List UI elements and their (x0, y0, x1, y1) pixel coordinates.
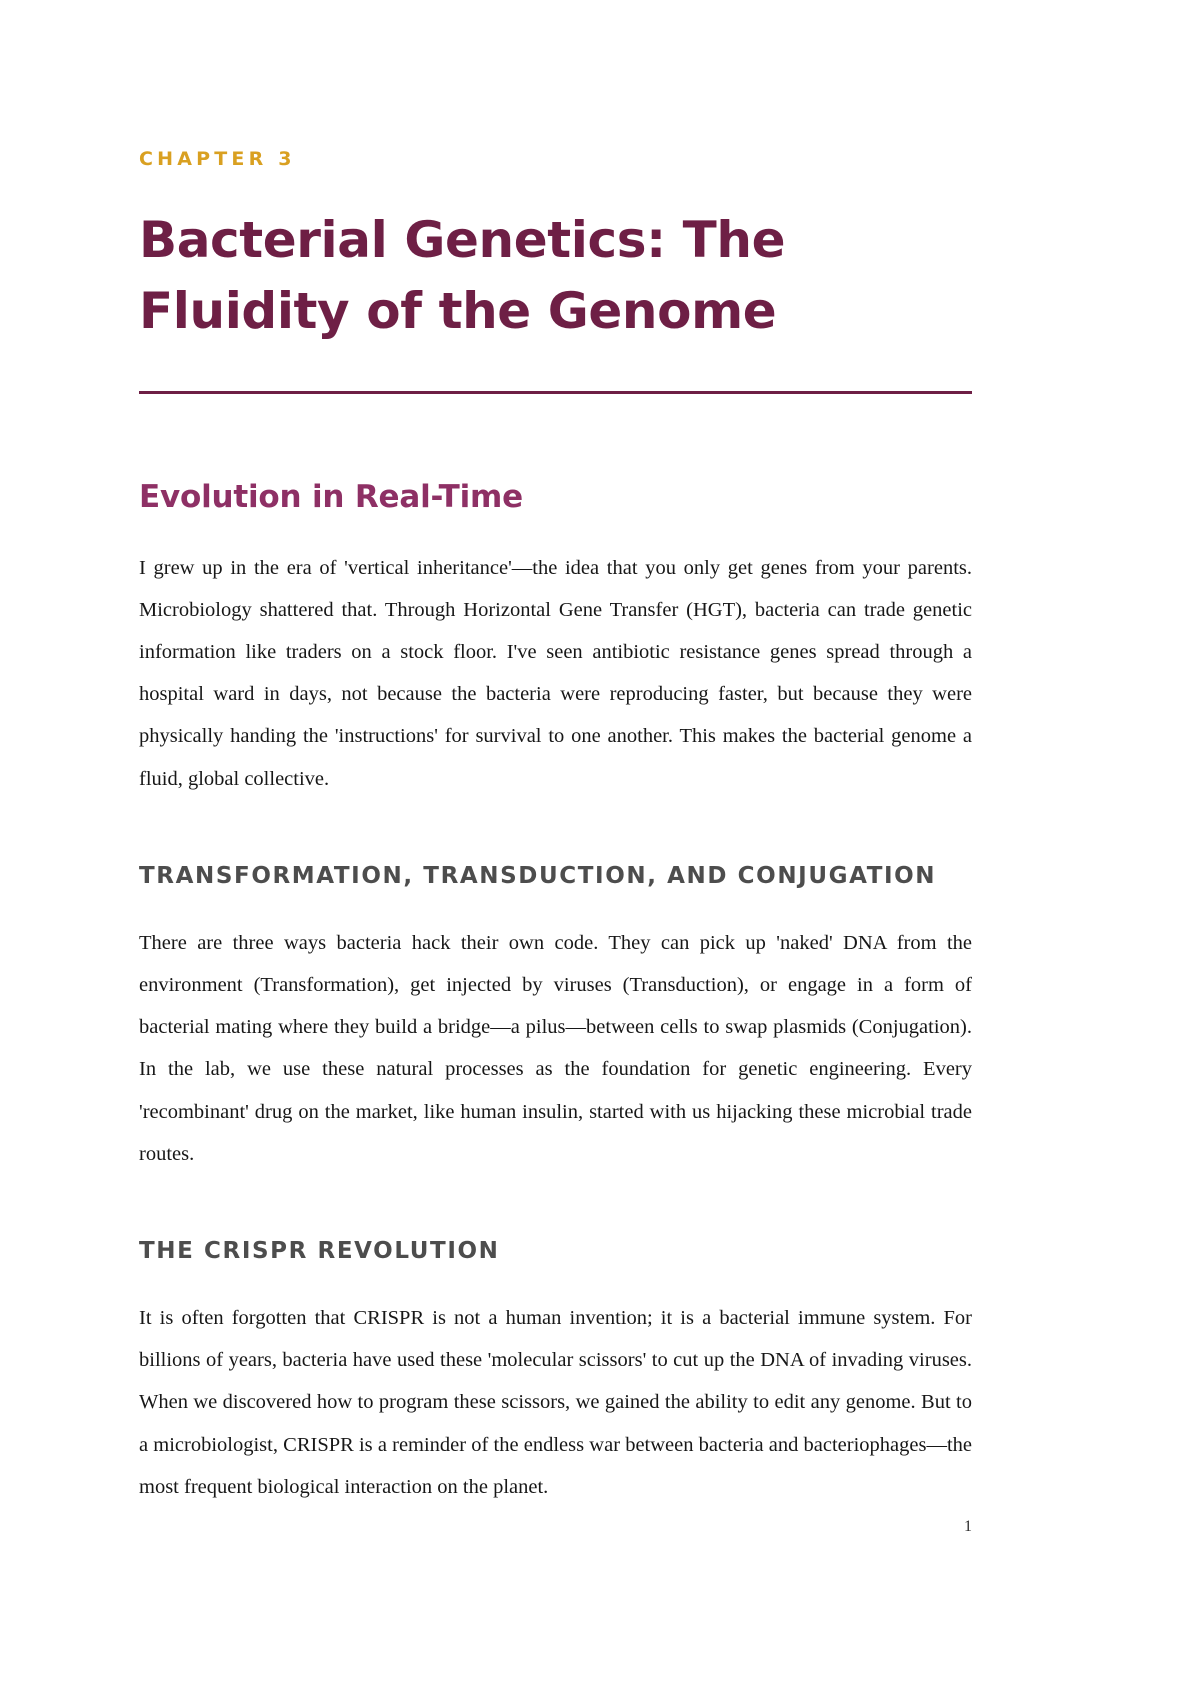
paragraph-crispr-1: It is often forgotten that CRISPR is not… (139, 1297, 972, 1508)
chapter-label: CHAPTER 3 (139, 148, 972, 171)
subsection-heading-the-crispr-revolution: THE CRISPR REVOLUTION (139, 1237, 972, 1267)
paragraph-transformation-1: There are three ways bacteria hack their… (139, 922, 972, 1175)
section-heading-evolution-in-real-time: Evolution in Real-Time (139, 478, 972, 517)
subsection-heading-transformation-transduction-conjugation: TRANSFORMATION, TRANSDUCTION, AND CONJUG… (139, 862, 972, 892)
title-divider (139, 391, 972, 394)
document-page: CHAPTER 3 Bacterial Genetics: The Fluidi… (0, 0, 1200, 1696)
page-title: Bacterial Genetics: The Fluidity of the … (139, 205, 959, 347)
page-content: CHAPTER 3 Bacterial Genetics: The Fluidi… (139, 0, 972, 1529)
page-number: 1 (964, 1518, 972, 1536)
paragraph-evolution-1: I grew up in the era of 'vertical inheri… (139, 547, 972, 800)
